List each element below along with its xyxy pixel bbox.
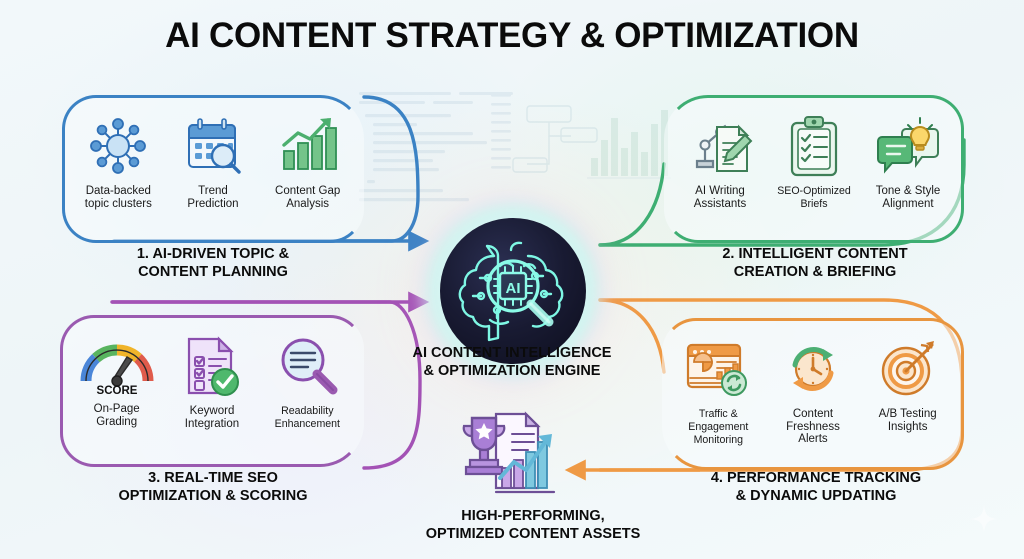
item-on-page-grading[interactable]: SCORE On-Page Grading: [69, 330, 163, 429]
network-nodes-icon: [86, 110, 150, 182]
item-caption-line2: Integration: [185, 418, 239, 430]
item-caption-line1: Content: [793, 408, 833, 420]
item-caption-line1: Traffic & Engagement: [688, 408, 748, 433]
item-tone-style-alignment[interactable]: Tone & Style Alignment: [861, 110, 954, 211]
item-caption-line1: SEO-Optimized: [777, 185, 851, 197]
brain-chip-magnifier-icon: AI: [440, 218, 586, 364]
gauge-score-icon: SCORE: [80, 330, 154, 402]
item-caption-line1: Content Gap: [275, 185, 340, 197]
item-ab-testing-insights[interactable]: A/B Testing Insights: [861, 333, 955, 434]
hub-label-line2: & OPTIMIZATION ENGINE: [424, 363, 601, 379]
quadrant-ai-driven-topic-planning[interactable]: Data-backed topic clusters: [62, 95, 364, 243]
quadrant-2-label-line1: 2. INTELLIGENT CONTENT: [722, 246, 907, 262]
item-caption-line2: Alignment: [882, 198, 933, 210]
quadrant-3-label-line1: 3. REAL-TIME SEO: [148, 470, 278, 486]
robot-arm-writing-icon: [687, 110, 753, 182]
item-caption-line3: Alerts: [798, 433, 827, 445]
item-caption-line2: Assistants: [694, 198, 746, 210]
quadrant-1-label-line2: CONTENT PLANNING: [138, 264, 288, 280]
sparkle-icon: [970, 505, 998, 533]
item-content-gap-analysis[interactable]: Content Gap Analysis: [261, 110, 355, 211]
hub-label: AI CONTENT INTELLIGENCE & OPTIMIZATION E…: [372, 345, 652, 380]
item-caption-line1: On-Page: [94, 403, 140, 415]
item-readability-enhancement[interactable]: Readability Enhancement: [260, 330, 354, 431]
item-caption-line2: Monitoring: [694, 434, 743, 446]
item-seo-optimized-briefs[interactable]: SEO-Optimized Briefs: [767, 110, 860, 211]
quadrant-3-label: 3. REAL-TIME SEO OPTIMIZATION & SCORING: [58, 470, 368, 505]
quadrant-1-label: 1. AI-DRIVEN TOPIC & CONTENT PLANNING: [58, 246, 368, 281]
item-caption-line2: Analysis: [286, 198, 329, 210]
bar-chart-arrow-up-icon: [276, 110, 340, 182]
item-ai-writing-assistants[interactable]: AI Writing Assistants: [673, 110, 766, 211]
quadrant-3-label-line2: OPTIMIZATION & SCORING: [118, 488, 307, 504]
page-title: AI CONTENT STRATEGY & OPTIMIZATION: [0, 16, 1024, 56]
item-caption-line2: Prediction: [187, 198, 238, 210]
item-caption-line2: topic clusters: [85, 198, 152, 210]
item-caption-line1: Readability: [281, 405, 333, 417]
item-caption-line1: Tone & Style: [876, 185, 941, 197]
item-caption-line2: Enhancement: [275, 418, 340, 430]
item-content-freshness-alerts[interactable]: Content Freshness Alerts: [766, 333, 860, 446]
hub-label-line1: AI CONTENT INTELLIGENCE: [413, 345, 612, 361]
output-label-line1: HIGH-PERFORMING,: [461, 508, 604, 524]
item-caption-line1: Trend: [198, 185, 228, 197]
quadrant-performance-tracking[interactable]: Traffic & Engagement Monitoring: [662, 318, 964, 470]
quadrant-intelligent-content-creation[interactable]: AI Writing Assistants: [664, 95, 964, 243]
clipboard-checklist-icon: [785, 110, 843, 182]
item-caption-line2: Freshness: [786, 421, 840, 433]
item-caption-line1: Keyword: [190, 405, 235, 417]
dashboard-refresh-icon: [684, 333, 752, 405]
item-caption-line2: Insights: [888, 421, 928, 433]
item-keyword-integration[interactable]: Keyword Integration: [165, 330, 259, 431]
item-traffic-engagement-monitoring[interactable]: Traffic & Engagement Monitoring: [671, 333, 765, 447]
magnifier-text-icon: [276, 330, 338, 402]
quadrant-4-label-line1: 4. PERFORMANCE TRACKING: [711, 470, 921, 486]
trophy-document-growth-icon: [450, 408, 570, 508]
ai-chip-label: AI: [506, 280, 521, 297]
ai-engine-hub[interactable]: AI: [440, 218, 586, 364]
output-label: HIGH-PERFORMING, OPTIMIZED CONTENT ASSET…: [368, 508, 698, 543]
quadrant-realtime-seo-optimization[interactable]: SCORE On-Page Grading: [60, 315, 364, 467]
speech-bubbles-lightbulb-icon: [876, 110, 940, 182]
document-checklist-check-icon: [181, 330, 243, 402]
item-data-backed-topic-clusters[interactable]: Data-backed topic clusters: [71, 110, 165, 211]
infographic-canvas: AI CONTENT STRATEGY & OPTIMIZATION: [0, 0, 1024, 559]
quadrant-1-label-line1: 1. AI-DRIVEN TOPIC &: [137, 246, 289, 262]
arrow-hub-to-q2-curve: [600, 164, 664, 245]
score-badge-label: SCORE: [96, 385, 137, 395]
item-caption-line2: Briefs: [800, 198, 827, 210]
target-arrow-icon: [877, 333, 939, 405]
item-caption-line1: A/B Testing: [879, 408, 937, 420]
item-caption-line1: Data-backed: [86, 185, 151, 197]
item-caption-line1: AI Writing: [695, 185, 745, 197]
quadrant-2-label: 2. INTELLIGENT CONTENT CREATION & BRIEFI…: [660, 246, 970, 281]
output-label-line2: OPTIMIZED CONTENT ASSETS: [426, 526, 641, 542]
item-caption-line2: Grading: [96, 416, 137, 428]
output-asset-icon-wrap: [450, 408, 570, 508]
quadrant-4-label-line2: & DYNAMIC UPDATING: [736, 488, 897, 504]
item-trend-prediction[interactable]: Trend Prediction: [166, 110, 260, 211]
clock-refresh-icon: [781, 333, 845, 405]
quadrant-4-label: 4. PERFORMANCE TRACKING & DYNAMIC UPDATI…: [660, 470, 972, 505]
quadrant-2-label-line2: CREATION & BRIEFING: [734, 264, 896, 280]
calendar-magnifier-icon: [181, 110, 245, 182]
